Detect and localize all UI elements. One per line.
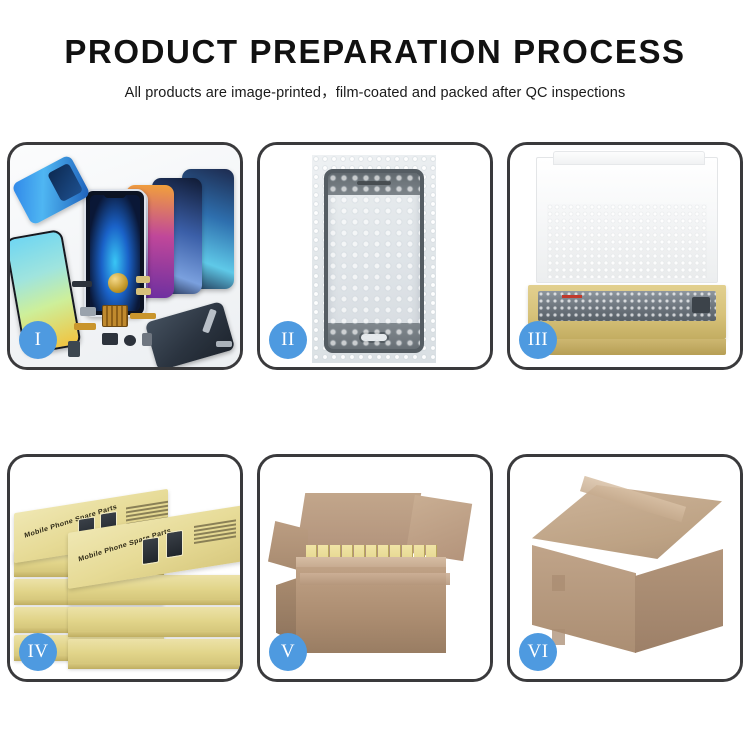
step-panel-3: III <box>507 142 743 370</box>
carton-seam-mark <box>552 575 565 591</box>
screwdriver-tool <box>216 341 232 347</box>
spare-part <box>72 281 92 287</box>
product-preparation-process-infographic: PRODUCT PREPARATION PROCESS All products… <box>0 0 750 750</box>
spare-part <box>68 341 80 357</box>
phone-notch <box>104 193 126 198</box>
step-badge-6: VI <box>519 633 557 671</box>
step-badge-5: V <box>269 633 307 671</box>
header: PRODUCT PREPARATION PROCESS All products… <box>0 34 750 102</box>
step-panel-1: I <box>7 142 243 370</box>
phone-front-glass <box>84 189 146 317</box>
step-panel-2: II <box>257 142 493 370</box>
earpiece-speaker <box>357 181 391 185</box>
step-badge-3: III <box>519 321 557 359</box>
phone-screen-glass <box>324 169 424 353</box>
spare-part <box>124 335 136 346</box>
stacked-box <box>68 607 240 637</box>
flex-cable-part <box>130 313 156 319</box>
step-panel-5: V <box>257 454 493 682</box>
box-screen-graphic <box>142 537 159 566</box>
copper-coil-part <box>108 273 128 293</box>
spare-part <box>102 333 118 345</box>
sealed-carton-side <box>635 549 723 653</box>
box-spec-lines <box>194 519 236 546</box>
step-badge-1: I <box>19 321 57 359</box>
blue-lcd-panel <box>11 154 91 226</box>
white-box-lid <box>536 157 718 283</box>
wrapped-product-inside-box <box>538 291 716 321</box>
spare-part <box>136 276 150 283</box>
product-red-marking <box>562 295 582 298</box>
flex-cable-part <box>74 323 96 330</box>
box-front-edge <box>528 339 726 355</box>
step-badge-2: II <box>269 321 307 359</box>
screen-top-bezel <box>328 173 420 195</box>
box-screen-graphic <box>166 530 183 559</box>
process-steps-grid: I II <box>7 142 743 682</box>
phone-logic-board <box>145 301 236 367</box>
page-title: PRODUCT PREPARATION PROCESS <box>0 34 750 70</box>
step-panel-4: Mobile Phone Spare Parts Mobile Phone Sp… <box>7 454 243 682</box>
step-panel-6: VI <box>507 454 743 682</box>
spare-part <box>142 333 152 346</box>
home-button <box>359 332 389 343</box>
connector-chip-part <box>102 305 128 327</box>
bubble-wrap-sheet <box>312 155 436 363</box>
page-subtitle: All products are image-printed，film-coat… <box>0 81 750 102</box>
spare-part <box>80 307 96 316</box>
stacked-box <box>68 639 240 669</box>
carton-front-flap <box>300 573 450 585</box>
step-badge-4: IV <box>19 633 57 671</box>
spare-part <box>136 288 151 295</box>
kraft-box-tray <box>528 285 726 339</box>
foam-insert <box>547 204 707 278</box>
